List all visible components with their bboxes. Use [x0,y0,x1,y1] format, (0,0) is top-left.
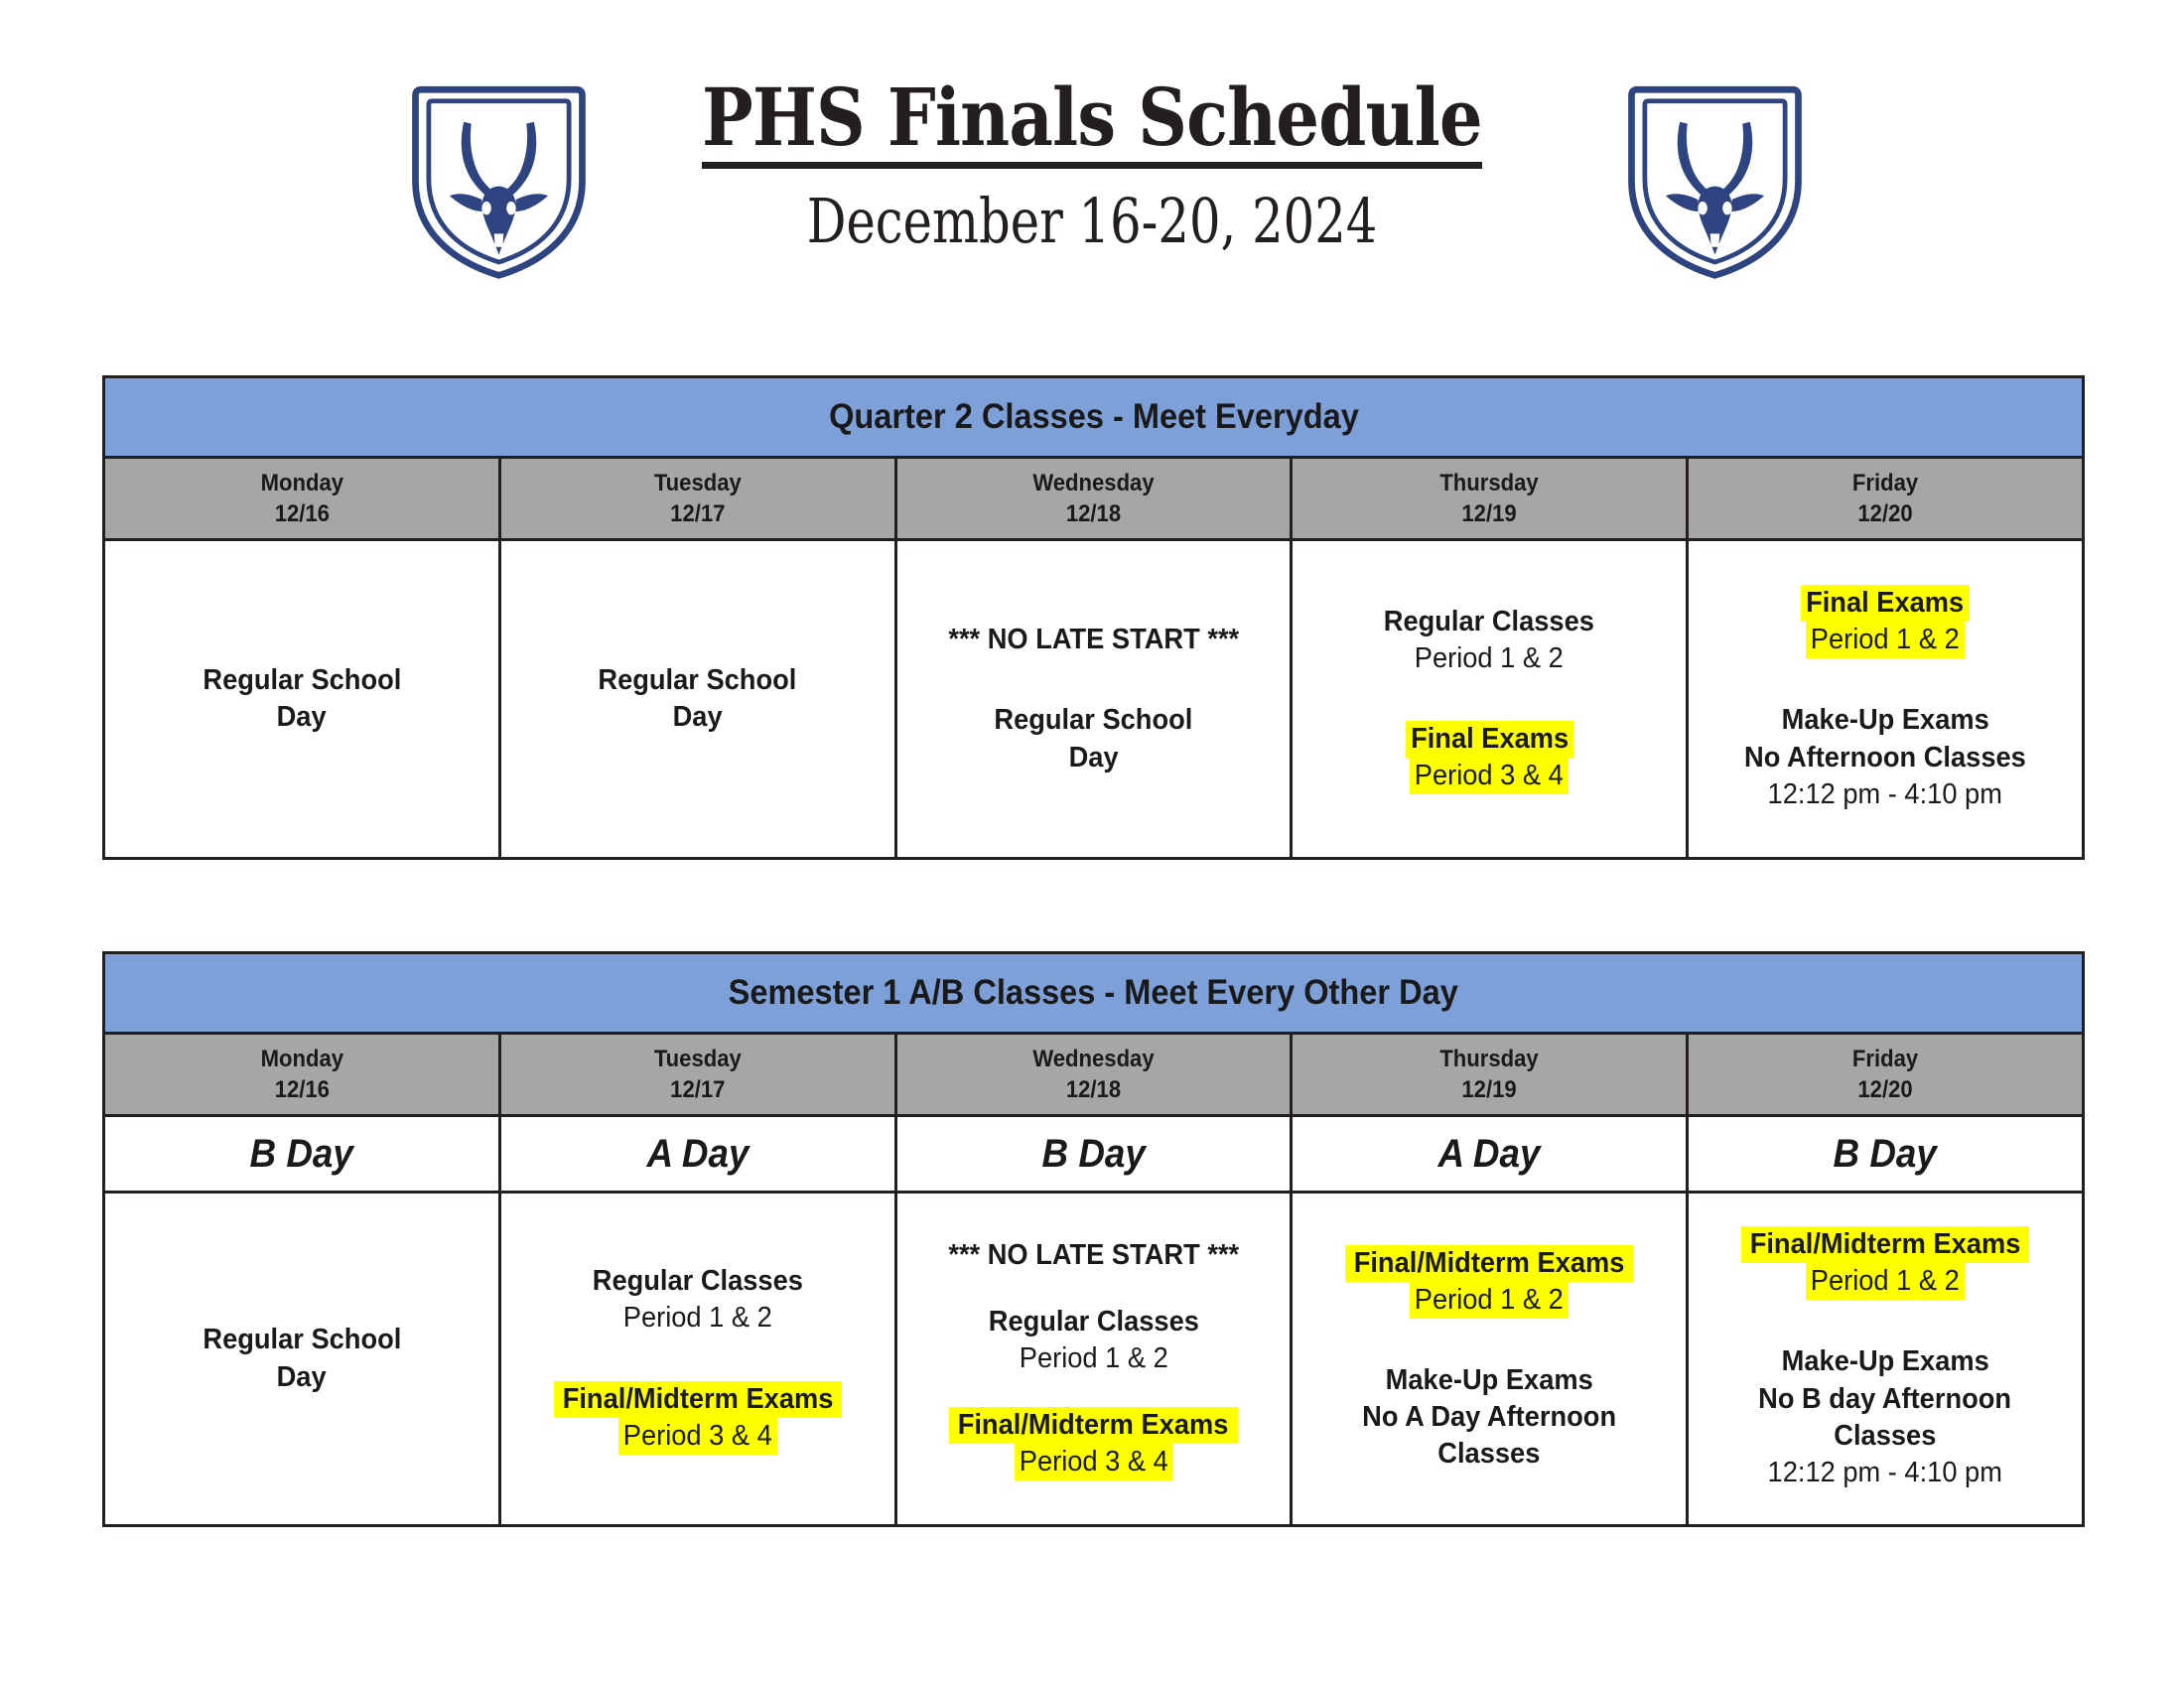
ab-day-label-1: A Day [499,1116,895,1193]
schedule-line: Day [1067,740,1120,776]
schedule-line: Period 1 & 2 [1015,1340,1173,1377]
day-header-thursday: Thursday12/19 [1292,458,1688,540]
band-title: Quarter 2 Classes - Meet Everyday [104,377,2084,458]
schedule-line: *** NO LATE START *** [939,622,1249,658]
schedule-cell-friday: Final/Midterm ExamsPeriod 1 & 2Make-Up E… [1688,1193,2084,1526]
schedule-line: Final/Midterm Exams [1741,1226,2029,1263]
semester-1-ab-schedule-table: Semester 1 A/B Classes - Meet Every Othe… [102,951,2085,1527]
schedule-line: No Afternoon Classes [1735,740,2035,776]
ab-day-label-4: B Day [1688,1116,2084,1193]
schedule-line: Make-Up Exams [1775,702,1995,739]
schedule-line: Final Exams [1406,721,1573,758]
day-header-wednesday: Wednesday12/18 [895,458,1292,540]
schedule-line: Day [275,1359,328,1396]
schedule-line: Day [671,699,724,736]
schedule-line: *** NO LATE START *** [939,1237,1249,1274]
schedule-line: Regular Classes [1377,604,1601,640]
schedule-line: Regular School [197,662,408,699]
schedule-line: Final/Midterm Exams [554,1381,842,1418]
schedule-cell-tuesday: Regular ClassesPeriod 1 & 2Final/Midterm… [499,1193,895,1526]
schedule-line: Regular School [988,702,1199,739]
schedule-cell-thursday: Final/Midterm ExamsPeriod 1 & 2Make-Up E… [1292,1193,1688,1526]
schedule-line: Make-Up Exams [1775,1343,1995,1380]
schedule-line: Classes [1831,1418,1940,1455]
ab-day-label-0: B Day [104,1116,500,1193]
schedule-line: 12:12 pm - 4:10 pm [1760,1455,2009,1491]
schedule-line: Regular Classes [586,1263,810,1300]
day-header-wednesday: Wednesday12/18 [895,1034,1292,1116]
band-title: Semester 1 A/B Classes - Meet Every Othe… [104,953,2084,1034]
day-header-row: Monday12/16Tuesday12/17Wednesday12/18Thu… [104,458,2084,540]
schedule-line: No B day Afternoon [1750,1381,2019,1418]
schedule-cell-thursday: Regular ClassesPeriod 1 & 2Final ExamsPe… [1292,540,1688,859]
band-title-row: Quarter 2 Classes - Meet Everyday [104,377,2084,458]
schedule-line: Period 1 & 2 [1806,1263,1965,1300]
schedule-cell-friday: Final ExamsPeriod 1 & 2Make-Up ExamsNo A… [1688,540,2084,859]
title-block: PHS Finals Schedule December 16-20, 2024 [0,77,2184,252]
schedule-content-row: Regular SchoolDayRegular SchoolDay*** NO… [104,540,2084,859]
schedule-line: 12:12 pm - 4:10 pm [1760,776,2009,813]
day-header-row: Monday12/16Tuesday12/17Wednesday12/18Thu… [104,1034,2084,1116]
schedule-cell-tuesday: Regular SchoolDay [499,540,895,859]
schedule-cell-wednesday: *** NO LATE START ***Regular ClassesPeri… [895,1193,1292,1526]
schedule-cell-monday: Regular SchoolDay [104,1193,500,1526]
schedule-line: Period 3 & 4 [1015,1444,1173,1480]
ab-day-label-2: B Day [895,1116,1292,1193]
day-header-friday: Friday12/20 [1688,458,2084,540]
day-header-monday: Monday12/16 [104,1034,500,1116]
day-header-monday: Monday12/16 [104,458,500,540]
table-body: Quarter 2 Classes - Meet EverydayMonday1… [104,377,2084,859]
schedule-line: Period 3 & 4 [618,1418,777,1455]
schedule-line: Make-Up Exams [1379,1362,1599,1399]
schedule-line: Regular School [592,662,803,699]
schedule-line: No A Day Afternoon [1354,1399,1624,1436]
schedule-cell-wednesday: *** NO LATE START ***Regular SchoolDay [895,540,1292,859]
schedule-cell-monday: Regular SchoolDay [104,540,500,859]
schedule-content-row: Regular SchoolDayRegular ClassesPeriod 1… [104,1193,2084,1526]
page-header: PHS Finals Schedule December 16-20, 2024 [0,0,2184,298]
ab-day-row: B DayA DayB DayA DayB Day [104,1116,2084,1193]
day-header-thursday: Thursday12/19 [1292,1034,1688,1116]
table-body: Semester 1 A/B Classes - Meet Every Othe… [104,953,2084,1526]
schedule-line: Period 1 & 2 [1410,1282,1569,1319]
quarter-2-schedule-table: Quarter 2 Classes - Meet EverydayMonday1… [102,375,2085,860]
schedule-line: Day [275,699,328,736]
schedule-line: Regular School [197,1322,408,1358]
band-title-row: Semester 1 A/B Classes - Meet Every Othe… [104,953,2084,1034]
page-title: PHS Finals Schedule [702,77,1482,169]
schedule-line: Final Exams [1801,585,1969,622]
schedule-line: Period 1 & 2 [618,1300,777,1336]
schedule-line: Period 1 & 2 [1410,640,1569,677]
phs-antelope-shield-logo-right [1618,74,1812,283]
schedule-line: Classes [1434,1436,1544,1473]
schedule-line: Regular Classes [982,1304,1206,1340]
day-header-tuesday: Tuesday12/17 [499,458,895,540]
day-header-tuesday: Tuesday12/17 [499,1034,895,1116]
day-header-friday: Friday12/20 [1688,1034,2084,1116]
schedule-line: Final/Midterm Exams [949,1407,1237,1444]
ab-day-label-3: A Day [1292,1116,1688,1193]
schedule-line: Final/Midterm Exams [1345,1245,1633,1282]
schedule-line: Period 1 & 2 [1806,622,1965,658]
schedule-line: Period 3 & 4 [1410,758,1569,794]
